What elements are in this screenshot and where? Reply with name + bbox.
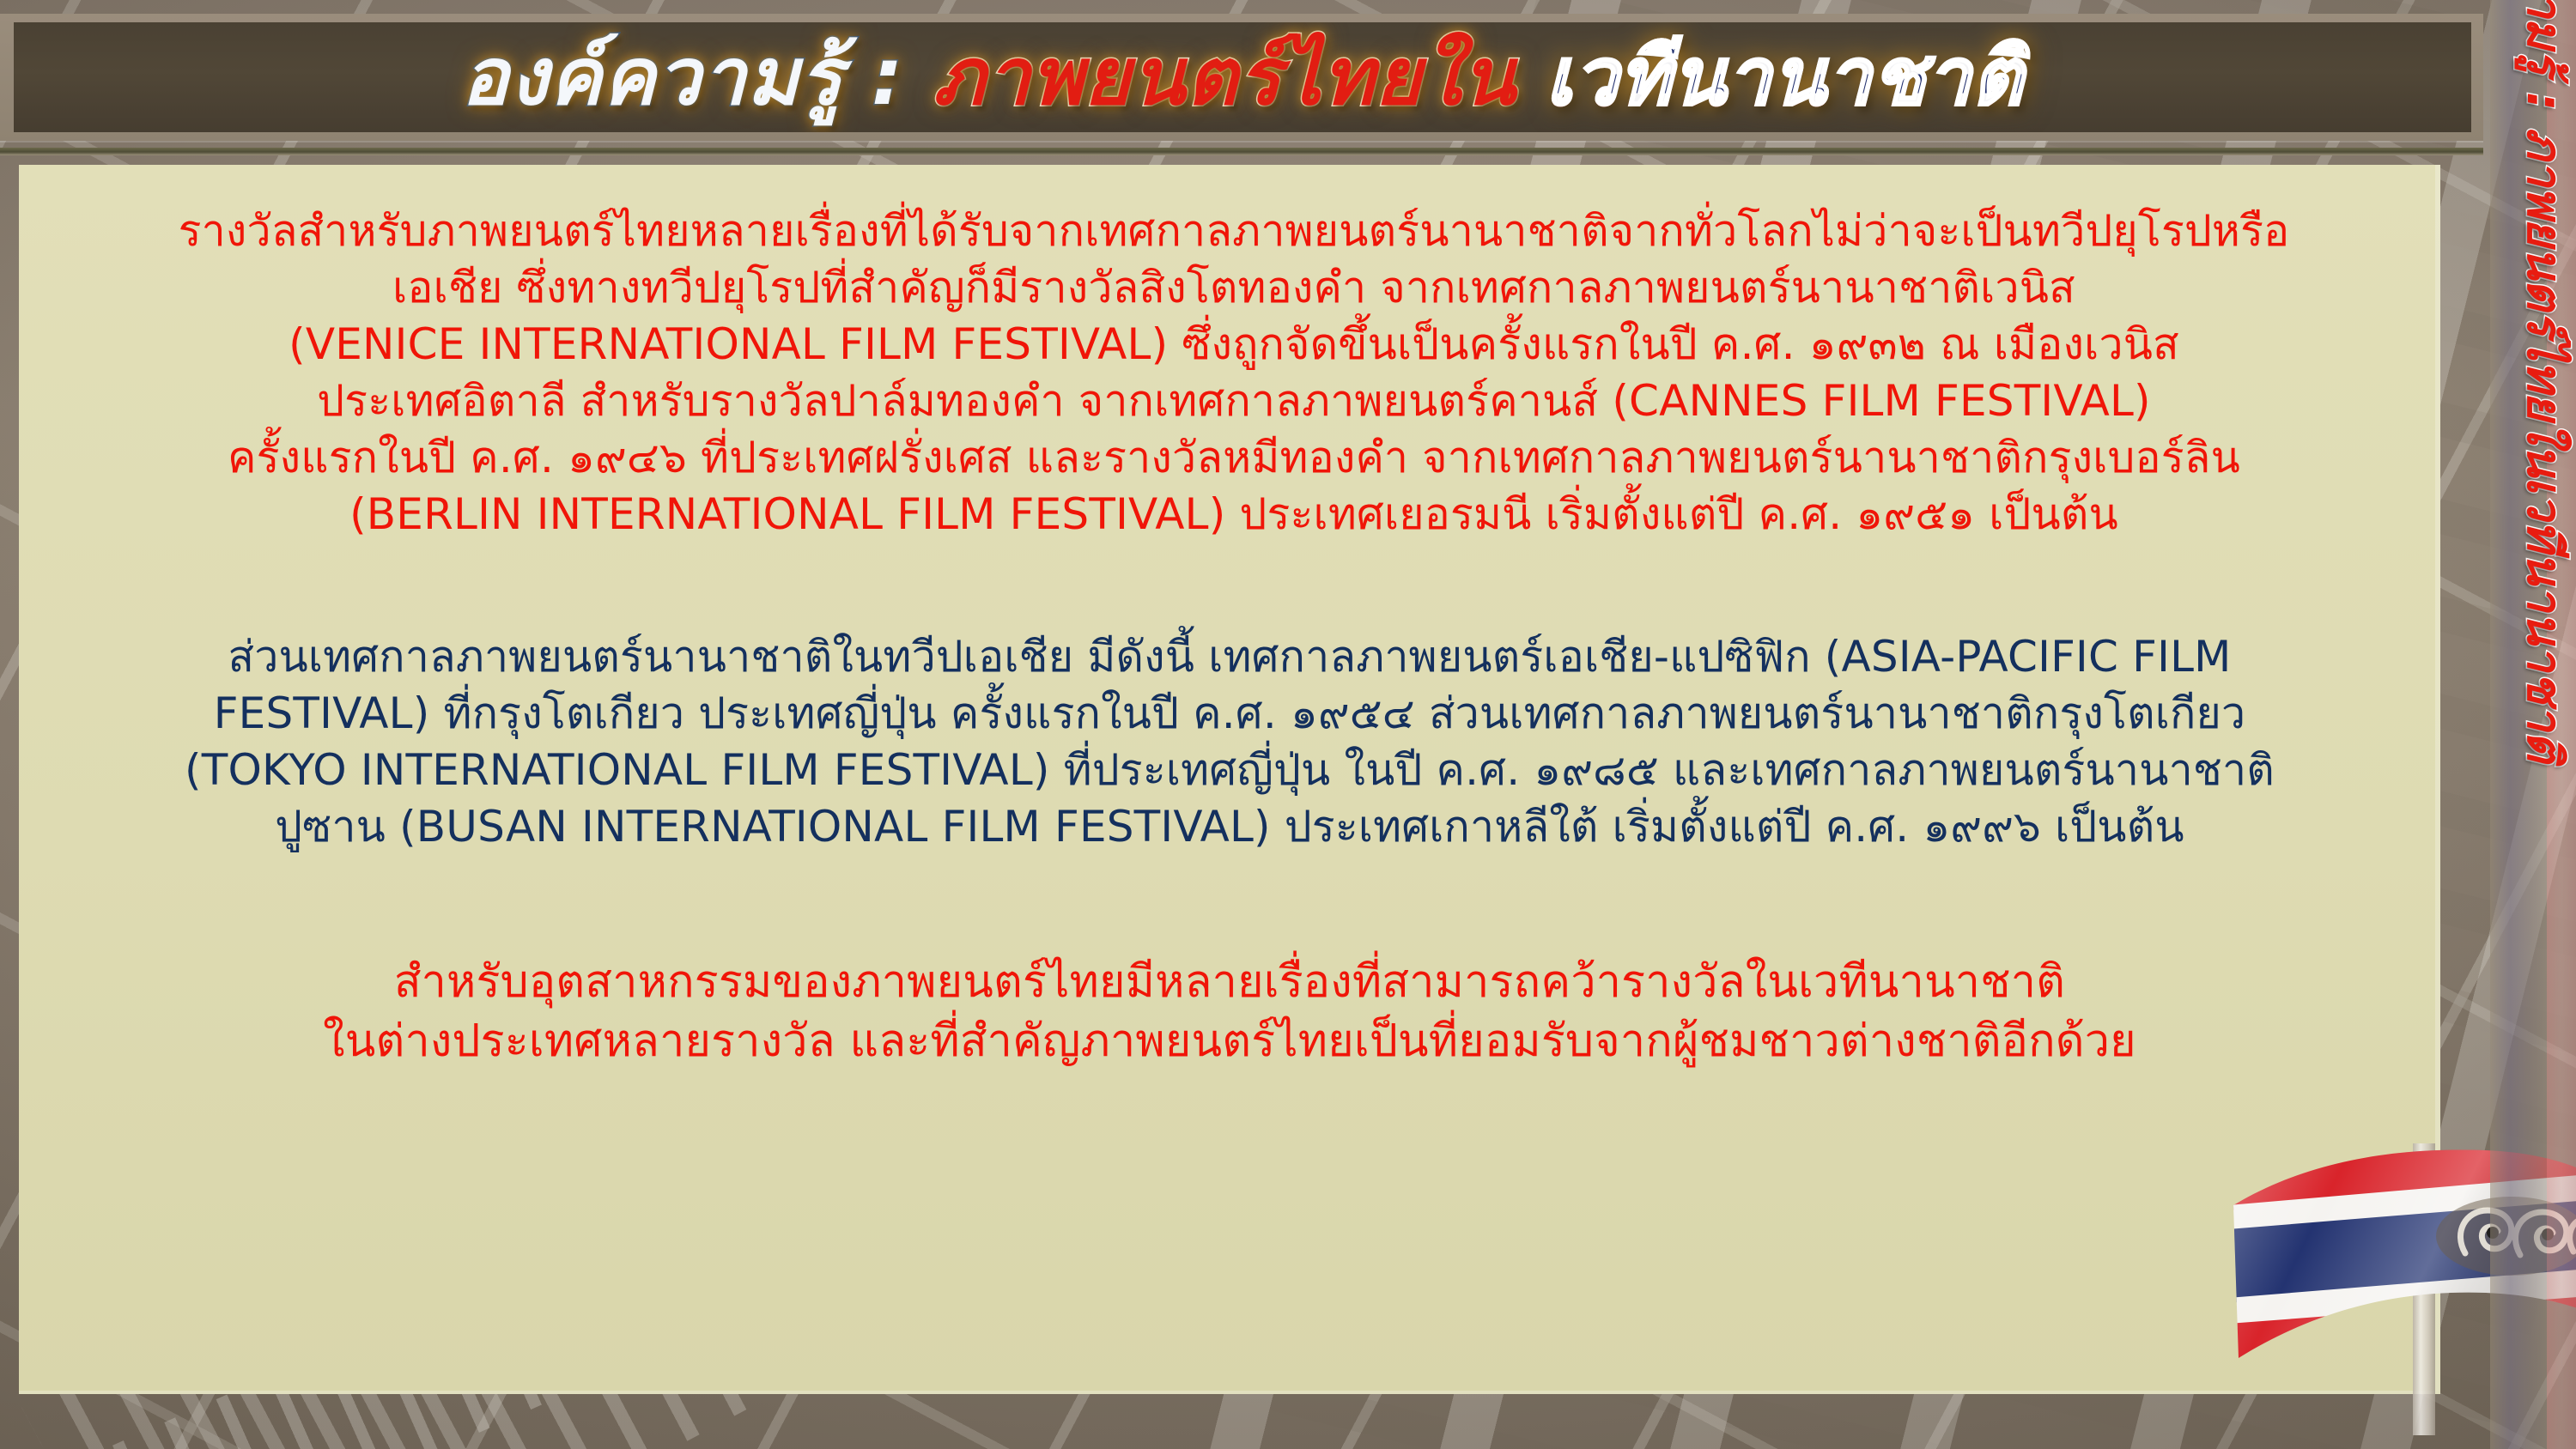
vertical-title-strip: องค์ความรู้ : ภาพยนตร์ไทยในเวทีนานาชาติ	[2480, 0, 2576, 1449]
paragraph-asia-festivals: ส่วนเทศกาลภาพยนตร์นานาชาติในทวีปเอเชีย ม…	[53, 628, 2406, 855]
content-panel: รางวัลสำหรับภาพยนตร์ไทยหลายเรื่องที่ได้ร…	[19, 165, 2440, 1394]
title-segment-knowledge: องค์ความรู้ :	[461, 38, 903, 117]
title-banner: องค์ความรู้ : ภาพยนตร์ไทยใน เวทีนานาชาติ	[14, 22, 2471, 132]
title-segment-international-stage: เวทีนานาชาติ	[1546, 38, 2024, 117]
title-banner-frame: องค์ความรู้ : ภาพยนตร์ไทยใน เวทีนานาชาติ	[0, 14, 2483, 141]
paragraph-thai-industry-summary: สำหรับอุตสาหกรรมของภาพยนตร์ไทยมีหลายเรื่…	[96, 953, 2363, 1070]
slide-canvas: องค์ความรู้ : ภาพยนตร์ไทยใน เวทีนานาชาติ…	[0, 0, 2576, 1449]
title-segment-thai-film-in: ภาพยนตร์ไทยใน	[933, 38, 1517, 117]
paragraph-europe-festivals: รางวัลสำหรับภาพยนตร์ไทยหลายเรื่องที่ได้ร…	[79, 203, 2389, 543]
page-title: องค์ความรู้ : ภาพยนตร์ไทยใน เวทีนานาชาติ	[461, 38, 2024, 117]
title-underline-rule	[0, 148, 2483, 155]
vertical-title-text: องค์ความรู้ : ภาพยนตร์ไทยในเวทีนานาชาติ	[2506, 0, 2576, 762]
